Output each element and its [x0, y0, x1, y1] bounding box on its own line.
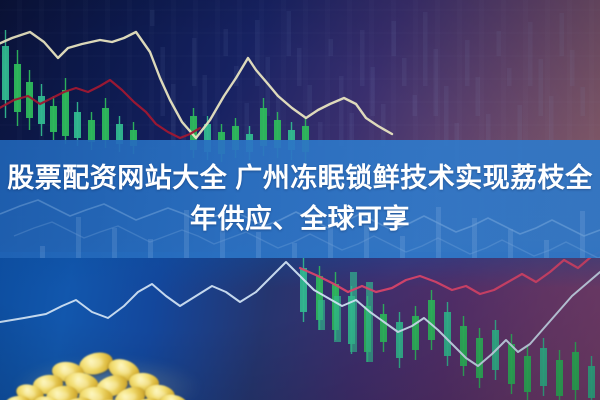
- lower-candles: [300, 258, 595, 400]
- title-line-1: 股票配资网站大全 广州冻眠锁鲜技术实现荔枝全: [7, 161, 593, 196]
- candle-body: [380, 314, 387, 342]
- candle-body: [2, 46, 9, 100]
- ghost-candle: [371, 67, 376, 116]
- candle-body: [366, 282, 373, 362]
- ghost-candle: [465, 40, 470, 86]
- candle-body: [318, 300, 325, 330]
- candle-body: [350, 272, 357, 352]
- title-line-2: 年供应、全球可享: [190, 202, 410, 237]
- ghost-candle: [549, 96, 554, 146]
- candle-body: [38, 96, 45, 124]
- candle-body: [460, 326, 467, 366]
- candle-body: [50, 106, 57, 132]
- ghost-candle: [570, 50, 575, 86]
- series-line-lower-pink-line: [300, 252, 600, 294]
- candle-body: [14, 64, 21, 112]
- ghost-candle: [171, 84, 176, 146]
- ghost-candle: [392, 21, 397, 56]
- ghost-candle: [192, 38, 197, 86]
- ghost-candle: [507, 68, 512, 86]
- ghost-candle: [308, 85, 313, 116]
- candle-body: [428, 300, 435, 340]
- candle-body: [74, 112, 81, 138]
- candle-body: [102, 108, 109, 140]
- ghost-candle: [434, 49, 439, 116]
- candle-body: [572, 352, 579, 390]
- ghost-candle: [224, 29, 229, 56]
- candle-body: [508, 344, 515, 384]
- candle-body: [62, 90, 69, 136]
- ghost-candle: [497, 31, 502, 56]
- candle-body: [540, 348, 547, 386]
- ghost-candle: [423, 12, 428, 86]
- candle-body: [556, 360, 563, 396]
- ghost-candle: [360, 30, 365, 86]
- gold-coin-pile: [8, 328, 198, 400]
- ghost-candle: [287, 11, 292, 56]
- ghost-candle: [560, 13, 565, 56]
- candle-body: [88, 120, 95, 142]
- ghost-candle: [329, 39, 334, 56]
- ghost-candle: [150, 10, 155, 26]
- ghost-candle: [297, 48, 302, 86]
- ghost-candle: [444, 86, 449, 146]
- ghost-candle: [255, 20, 260, 86]
- ghost-candle: [476, 77, 481, 116]
- candle-body: [26, 82, 33, 118]
- banner-image: 股票配资网站大全 广州冻眠锁鲜技术实现荔枝全 年供应、全球可享: [0, 0, 600, 400]
- candle-body: [588, 366, 595, 398]
- ghost-candle: [402, 58, 407, 86]
- candle-body: [300, 268, 307, 312]
- ghost-candle: [528, 22, 533, 86]
- candle-body: [524, 356, 531, 392]
- ghost-candle: [413, 95, 418, 116]
- candle-body: [476, 338, 483, 378]
- ghost-candle: [339, 76, 344, 146]
- ghost-candle: [581, 87, 586, 116]
- candle-body: [396, 322, 403, 358]
- banner-title: 股票配资网站大全 广州冻眠锁鲜技术实现荔枝全 年供应、全球可享: [0, 140, 600, 258]
- ghost-candle: [539, 59, 544, 116]
- candle-body: [444, 312, 451, 356]
- ghost-candle: [203, 75, 208, 116]
